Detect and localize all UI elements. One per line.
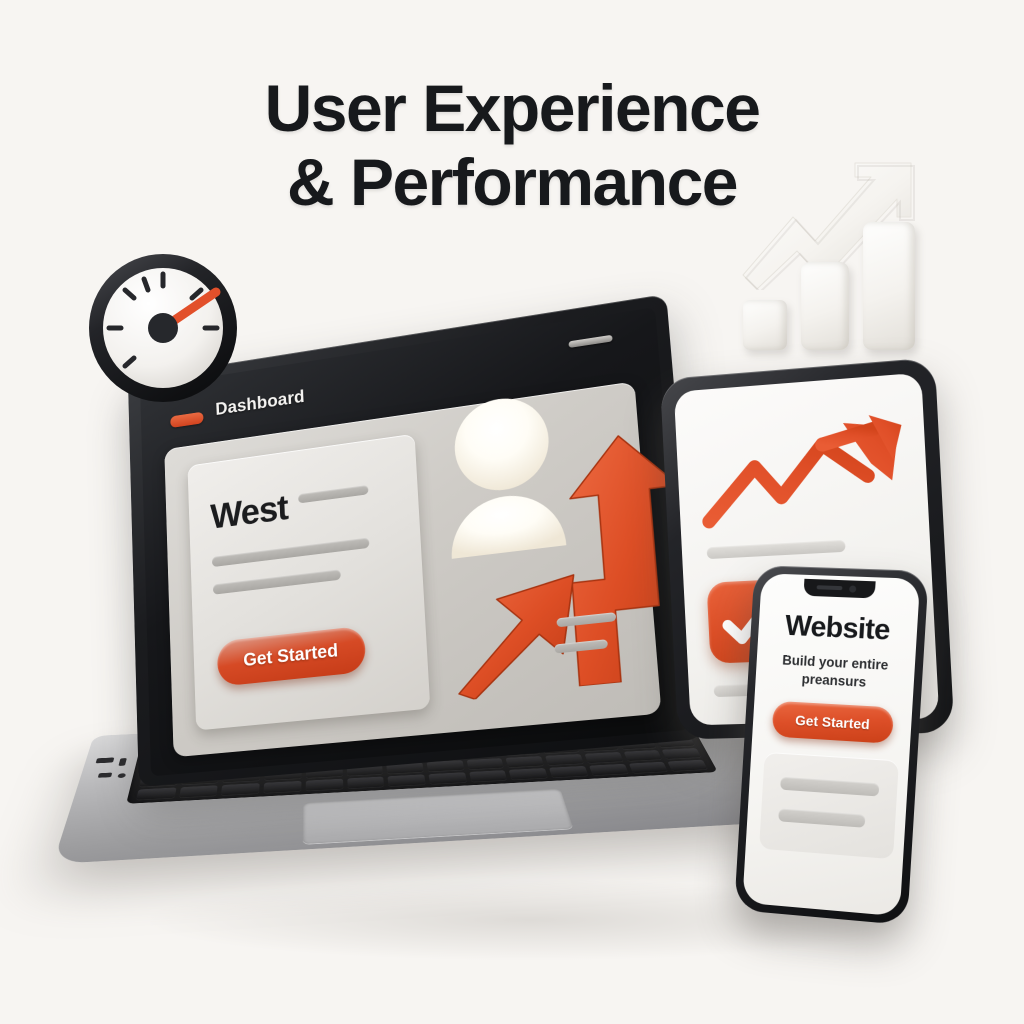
placeholder-line [213,569,341,594]
info-card: West Get Started [187,434,430,731]
phone-content-card [759,752,899,859]
active-indicator-pill [170,412,203,428]
get-started-label: Get Started [243,641,339,672]
scene-canvas: User Experience & Performance [0,0,1024,1024]
phone-get-started-button[interactable]: Get Started [772,701,895,744]
bar-3 [863,222,915,350]
notch [803,579,875,599]
dashboard-panel: West Get Started [164,381,661,757]
placeholder-line [298,485,369,504]
speaker-icon [817,585,843,590]
bar-1 [743,300,787,350]
phone-title: Website [758,609,918,649]
phone-subtitle: Build your entire preansurs [767,651,903,693]
placeholder-line [212,537,370,567]
placeholder-line [780,777,879,797]
phone-bezel: Website Build your entire preansurs Get … [734,565,929,925]
port-group [87,756,133,790]
get-started-button[interactable]: Get Started [217,626,367,687]
bar-2 [801,262,849,350]
speedometer-gauge-icon [84,252,242,404]
phone-screen: Website Build your entire preansurs Get … [742,573,920,916]
zigzag-growth-chart-icon [696,408,913,532]
page-title: User Experience & Performance [0,72,1024,220]
placeholder-line [707,540,846,559]
user-avatar-icon [431,385,579,560]
diagonal-up-arrow-icon [448,565,586,702]
camera-icon [849,585,856,592]
trackpad[interactable] [303,789,574,844]
phone-get-started-label: Get Started [795,712,870,732]
window-minimize-icon[interactable] [568,335,612,348]
phone-device: Website Build your entire preansurs Get … [734,565,929,925]
placeholder-line [778,808,865,827]
card-title: West [210,488,289,537]
